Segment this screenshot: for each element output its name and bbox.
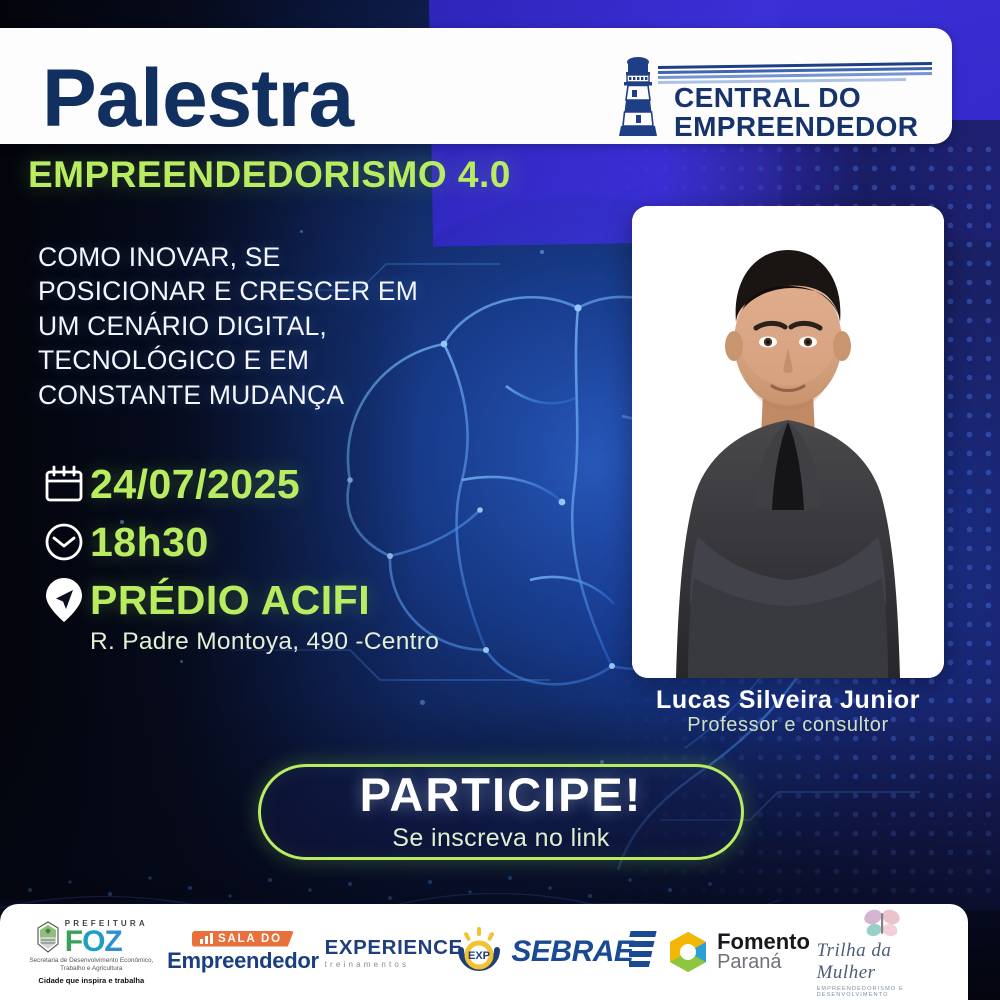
- description-line: TECNOLÓGICO E EM: [38, 343, 468, 377]
- speaker-portrait: [632, 206, 944, 678]
- sebrae-bars-icon: [629, 929, 659, 975]
- description-line: POSICIONAR E CRESCER EM: [38, 274, 468, 308]
- particle: [540, 250, 544, 254]
- brand-logo-text: CENTRAL DO EMPREENDEDOR: [674, 84, 918, 141]
- event-venue: PRÉDIO ACIFI: [90, 577, 370, 624]
- sponsor-sub: treinamentos: [325, 960, 410, 969]
- event-time-row: 18h30: [38, 516, 578, 568]
- sponsor-name: SEBRAE: [511, 935, 633, 969]
- sponsor-tagline: Cidade que inspira e trabalha: [38, 976, 144, 985]
- poster-description: COMO INOVAR, SE POSICIONAR E CRESCER EM …: [38, 240, 468, 412]
- sponsor-department: Secretaria de Desenvolvimento Econômico,…: [21, 957, 161, 973]
- sponsor-name: EXPERIENCE: [325, 936, 463, 960]
- description-line: CONSTANTE MUDANÇA: [38, 378, 468, 412]
- speaker-name: Lucas Silveira Junior: [632, 686, 944, 715]
- sponsor-name: FOZ: [65, 928, 122, 956]
- cta-main-label: PARTICIPE!: [360, 771, 643, 818]
- event-info: 24/07/2025 18h30 PRÉDIO ACIFI R. Padre M…: [38, 458, 578, 656]
- sponsor-sub: EMPREENDEDORISMO E DESENVOLVIMENTO: [817, 986, 947, 998]
- bar-chart-icon: [200, 933, 213, 944]
- poster-subtitle: EMPREENDEDORISMO 4.0: [28, 154, 511, 196]
- page-title: Palestra: [42, 58, 353, 140]
- sponsor-logo-sebrae: SEBRAE: [511, 913, 659, 991]
- sponsor-bar: PREFEITURA FOZ Secretaria de Desenvolvim…: [0, 904, 968, 1000]
- particle: [420, 700, 425, 705]
- coat-of-arms-icon: [35, 920, 61, 954]
- sponsor-badge-label: SALA DO: [218, 933, 282, 945]
- description-line: COMO INOVAR, SE: [38, 240, 468, 274]
- description-line: UM CENÁRIO DIGITAL,: [38, 309, 468, 343]
- butterfly-icon: [857, 906, 907, 940]
- sponsor-logo-sala-do-empreendedor: SALA DO Empreendedor: [168, 913, 318, 991]
- sponsor-name: Fomento: [717, 931, 810, 953]
- event-venue-row: PRÉDIO ACIFI: [38, 574, 578, 626]
- speaker-photo-card: [632, 206, 944, 678]
- brand-line-1: CENTRAL DO: [674, 84, 918, 113]
- brand-logo: CENTRAL DO EMPREENDEDOR: [612, 50, 932, 142]
- participate-button[interactable]: PARTICIPE! Se inscreva no link: [258, 764, 744, 860]
- event-address: R. Padre Montoya, 490 -Centro: [90, 628, 578, 656]
- experience-mark-icon: EXP: [453, 926, 505, 978]
- sponsor-logo-trilha-da-mulher: Trilha da Mulher EMPREENDEDORISMO E DESE…: [817, 913, 947, 991]
- sponsor-name: Empreendedor: [167, 948, 319, 974]
- sponsor-name-secondary: Paraná: [717, 953, 810, 973]
- sponsor-logo-experience: EXPERIENCE treinamentos EXP: [325, 913, 505, 991]
- particle: [300, 230, 303, 233]
- particle: [180, 660, 183, 663]
- cta-sub-label: Se inscreva no link: [392, 824, 609, 853]
- speaker-role: Professor e consultor: [632, 714, 944, 737]
- hexagon-icon: [666, 930, 710, 974]
- location-pin-icon: [38, 574, 90, 626]
- brand-line-2: EMPREENDEDOR: [674, 113, 918, 142]
- sponsor-badge: SALA DO: [192, 931, 294, 947]
- event-time: 18h30: [90, 519, 209, 566]
- event-poster: Palestra: [0, 0, 1000, 1000]
- sponsor-name: Trilha da Mulher: [817, 940, 947, 984]
- sponsor-logo-fomento-parana: Fomento Paraná: [666, 913, 810, 991]
- clock-icon: [38, 516, 90, 568]
- sponsor-logo-prefeitura-foz: PREFEITURA FOZ Secretaria de Desenvolvim…: [21, 913, 161, 991]
- event-date: 24/07/2025: [90, 461, 300, 508]
- svg-text:EXP: EXP: [468, 950, 490, 962]
- event-date-row: 24/07/2025: [38, 458, 578, 510]
- header-bar: Palestra: [0, 28, 952, 144]
- calendar-icon: [38, 458, 90, 510]
